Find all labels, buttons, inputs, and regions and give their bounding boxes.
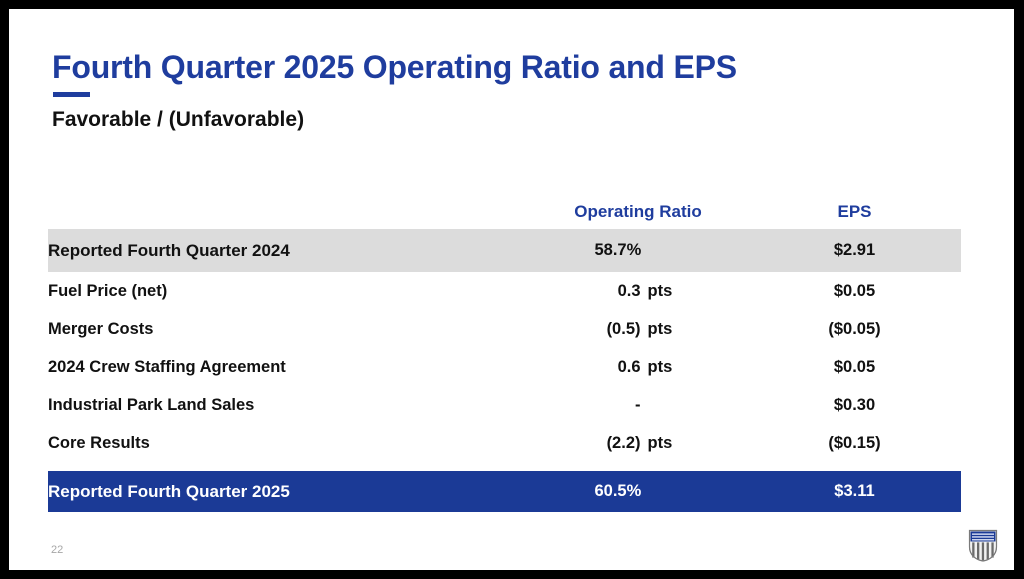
row-label: Merger Costs: [48, 310, 528, 348]
operating-ratio-unit: pts: [641, 320, 682, 339]
title-underline-rule: [53, 92, 90, 97]
operating-ratio-eps-table: Operating Ratio EPS Reported Fourth Quar…: [48, 195, 961, 512]
column-header-label: [48, 195, 528, 229]
operating-ratio-number: -: [595, 396, 641, 415]
operating-ratio-number: (0.5): [595, 320, 641, 339]
row-operating-ratio: (0.5)pts: [528, 310, 748, 348]
operating-ratio-value-group: -: [595, 396, 682, 415]
row-label: Reported Fourth Quarter 2025: [48, 471, 528, 512]
row-eps: $3.11: [748, 471, 961, 512]
row-label: Industrial Park Land Sales: [48, 386, 528, 424]
column-header-operating-ratio: Operating Ratio: [528, 195, 748, 229]
table-row: Core Results (2.2)pts ($0.15): [48, 424, 961, 462]
row-eps: ($0.15): [748, 424, 961, 462]
row-label: Core Results: [48, 424, 528, 462]
spacer-cell: [48, 462, 528, 471]
row-label: 2024 Crew Staffing Agreement: [48, 348, 528, 386]
operating-ratio-unit: pts: [641, 282, 682, 301]
operating-ratio-unit: pts: [641, 434, 682, 453]
operating-ratio-number: 58.7%: [595, 241, 641, 260]
table-row: Merger Costs (0.5)pts ($0.05): [48, 310, 961, 348]
operating-ratio-value-group: (2.2)pts: [595, 434, 682, 453]
row-eps: $0.05: [748, 272, 961, 310]
operating-ratio-number: (2.2): [595, 434, 641, 453]
row-operating-ratio: 60.5%: [528, 471, 748, 512]
operating-ratio-unit: pts: [641, 358, 682, 377]
operating-ratio-value-group: 0.3pts: [595, 282, 682, 301]
spacer-cell: [528, 462, 748, 471]
page-subtitle: Favorable / (Unfavorable): [52, 108, 952, 132]
union-pacific-shield-logo-icon: [968, 529, 998, 562]
operating-ratio-value-group: (0.5)pts: [595, 320, 682, 339]
slide-frame: Fourth Quarter 2025 Operating Ratio and …: [0, 0, 1024, 579]
spacer-cell: [748, 462, 961, 471]
table-row: Reported Fourth Quarter 2024 58.7% $2.91: [48, 229, 961, 272]
table-row-spacer: [48, 462, 961, 471]
table-body: Reported Fourth Quarter 2024 58.7% $2.91…: [48, 229, 961, 512]
row-label: Reported Fourth Quarter 2024: [48, 229, 528, 272]
operating-ratio-value-group: 60.5%: [595, 482, 682, 501]
operating-ratio-value-group: 0.6pts: [595, 358, 682, 377]
table-row: Industrial Park Land Sales - $0.30: [48, 386, 961, 424]
operating-ratio-number: 60.5%: [595, 482, 641, 501]
row-operating-ratio: 0.3pts: [528, 272, 748, 310]
operating-ratio-number: 0.6: [595, 358, 641, 377]
row-eps: $0.30: [748, 386, 961, 424]
table-row: Reported Fourth Quarter 2025 60.5% $3.11: [48, 471, 961, 512]
slide-canvas: Fourth Quarter 2025 Operating Ratio and …: [9, 9, 1014, 570]
operating-ratio-number: 0.3: [595, 282, 641, 301]
operating-ratio-value-group: 58.7%: [595, 241, 682, 260]
table-header-row: Operating Ratio EPS: [48, 195, 961, 229]
row-operating-ratio: 58.7%: [528, 229, 748, 272]
column-header-eps: EPS: [748, 195, 961, 229]
page-number: 22: [51, 544, 63, 556]
page-title: Fourth Quarter 2025 Operating Ratio and …: [52, 49, 952, 86]
row-eps: $0.05: [748, 348, 961, 386]
row-operating-ratio: (2.2)pts: [528, 424, 748, 462]
table-header: Operating Ratio EPS: [48, 195, 961, 229]
row-operating-ratio: -: [528, 386, 748, 424]
row-operating-ratio: 0.6pts: [528, 348, 748, 386]
row-eps: ($0.05): [748, 310, 961, 348]
row-label: Fuel Price (net): [48, 272, 528, 310]
title-block: Fourth Quarter 2025 Operating Ratio and …: [52, 49, 952, 132]
table-row: Fuel Price (net) 0.3pts $0.05: [48, 272, 961, 310]
row-eps: $2.91: [748, 229, 961, 272]
table-row: 2024 Crew Staffing Agreement 0.6pts $0.0…: [48, 348, 961, 386]
